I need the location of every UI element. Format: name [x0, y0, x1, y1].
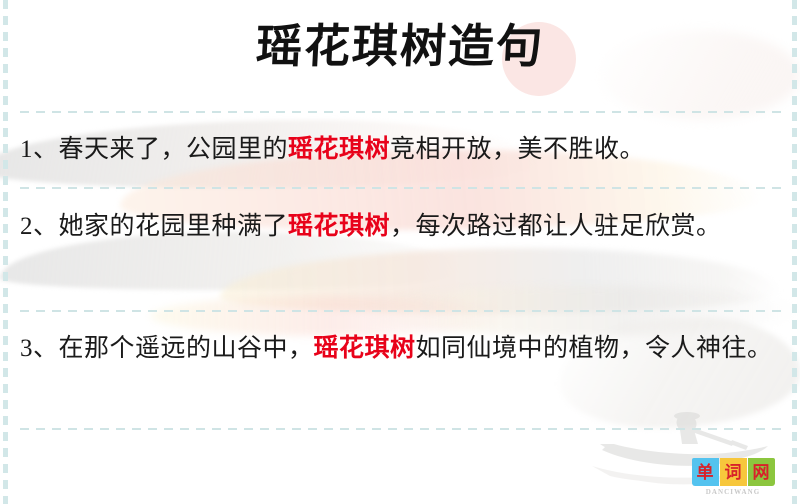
slide-canvas: 瑶花琪树造句 1、春天来了，公园里的瑶花琪树竞相开放，美不胜收。 2、她家的花园…	[0, 0, 800, 504]
sentence-marker: 1、	[20, 136, 59, 163]
list-item: 3、在那个遥远的山谷中，瑶花琪树如同仙境中的植物，令人神往。	[20, 327, 778, 371]
left-edge-dashed-rail	[3, 0, 8, 504]
logo-char-1: 单	[692, 458, 719, 486]
keyword-highlight: 瑶花琪树	[288, 136, 390, 163]
list-item: 2、她家的花园里种满了瑶花琪树，每次路过都让人驻足欣赏。	[20, 205, 778, 249]
sentence-text-before: 她家的花园里种满了	[59, 213, 289, 240]
logo-char-3: 网	[748, 458, 775, 486]
sentence-marker: 3、	[20, 335, 59, 362]
separator-rule-1	[20, 187, 782, 189]
sentence-text-before: 春天来了，公园里的	[59, 136, 289, 163]
logo-char-2: 词	[720, 458, 747, 486]
logo-caption: DANCIWANG	[690, 488, 776, 496]
mountain-wash-4	[220, 248, 780, 314]
separator-rule-2	[20, 310, 782, 312]
page-title: 瑶花琪树造句	[254, 18, 545, 76]
page-title-row: 瑶花琪树造句	[0, 18, 800, 76]
sentence-marker: 2、	[20, 213, 59, 240]
keyword-highlight: 瑶花琪树	[314, 335, 416, 362]
separator-rule-3	[20, 428, 782, 430]
sentence-text-after: ，每次路过都让人驻足欣赏。	[390, 213, 722, 240]
separator-rule-top	[20, 111, 782, 113]
site-logo: 单 词 网 DANCIWANG	[690, 458, 776, 496]
logo-mark: 单 词 网	[690, 458, 776, 486]
list-item: 1、春天来了，公园里的瑶花琪树竞相开放，美不胜收。	[20, 128, 778, 172]
sentence-text-before: 在那个遥远的山谷中，	[59, 335, 314, 362]
sentence-text-after: 如同仙境中的植物，令人神往。	[416, 335, 773, 362]
right-edge-dashed-rail	[792, 0, 797, 504]
keyword-highlight: 瑶花琪树	[288, 213, 390, 240]
sentence-text-after: 竞相开放，美不胜收。	[390, 136, 645, 163]
